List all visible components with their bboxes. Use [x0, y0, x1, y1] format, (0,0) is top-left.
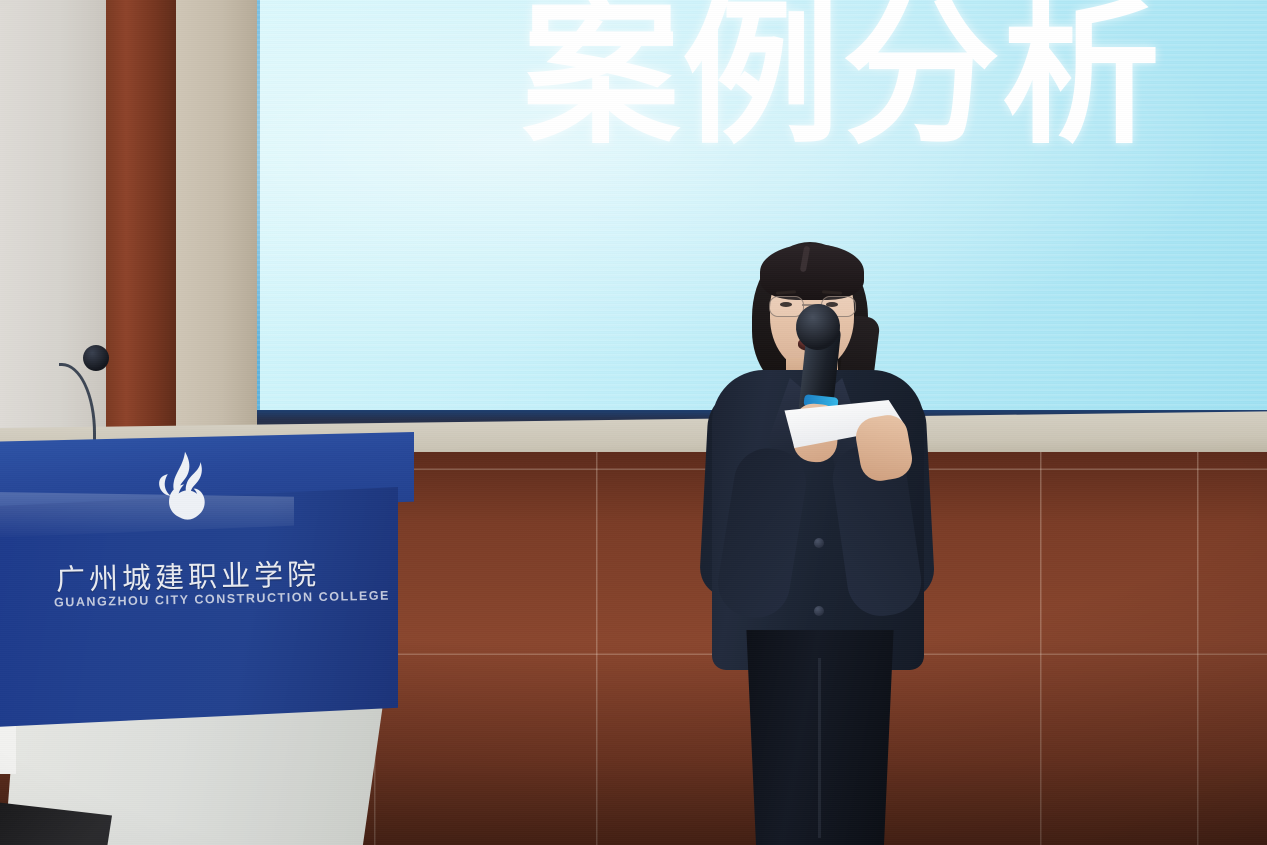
blazer-button-upper	[814, 538, 824, 548]
microphone-head-icon	[83, 345, 109, 371]
slide-title-text: 案例分析	[522, 0, 1162, 158]
presentation-photo-scene: 案例分析	[0, 0, 1267, 845]
dark-wood-column	[106, 0, 178, 448]
light-wood-column	[176, 0, 258, 448]
flame-logo	[142, 450, 228, 536]
screen-left-edge	[257, 0, 260, 416]
lectern-podium: 广州城建职业学院 GUANGZHOU CITY CONSTRUCTION COL…	[0, 432, 424, 845]
speaker-figure	[690, 238, 990, 845]
trouser-crease	[818, 658, 821, 838]
blazer-button-lower	[814, 606, 824, 616]
